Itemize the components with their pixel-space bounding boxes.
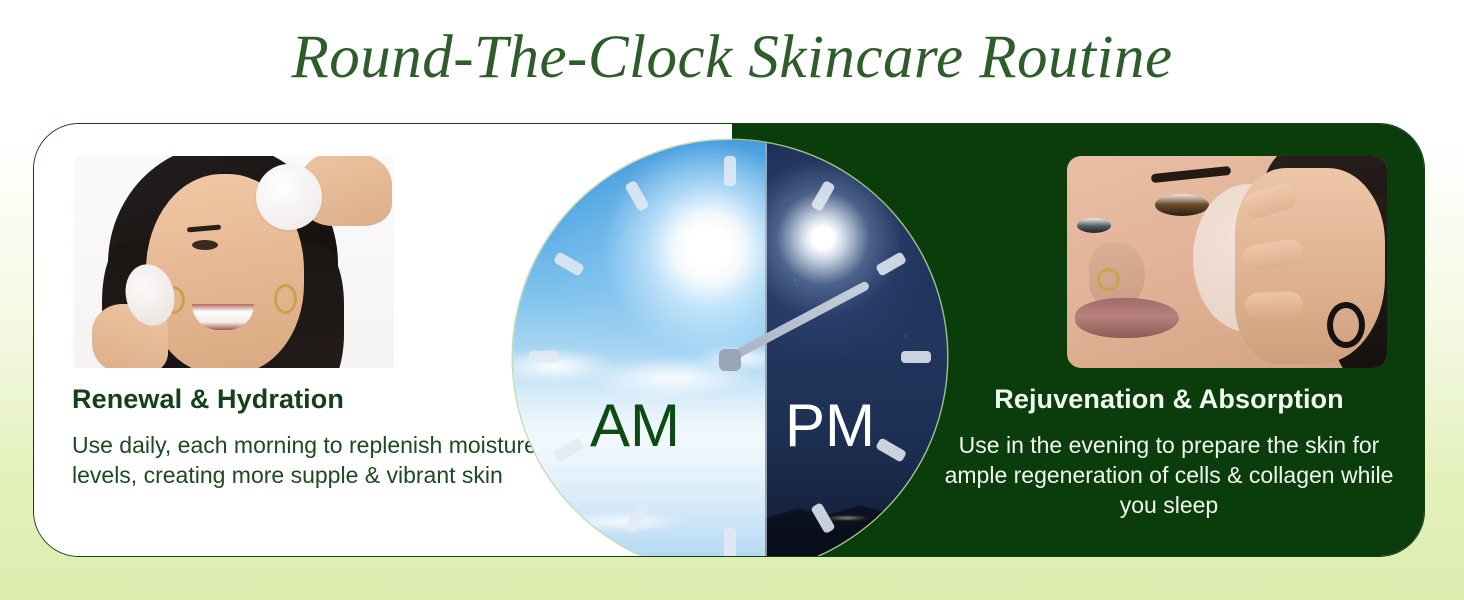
cotton-pad-eye (256, 164, 322, 230)
am-label: AM (513, 393, 765, 459)
clock-tick-9 (529, 351, 559, 363)
am-body: Use daily, each morning to replenish moi… (72, 430, 542, 490)
pm-label: PM (765, 393, 947, 459)
pm-heading: Rejuvenation & Absorption (934, 382, 1404, 416)
am-text-block: Renewal & Hydration Use daily, each morn… (72, 382, 542, 490)
clock-tick-6 (724, 528, 736, 557)
am-heading: Renewal & Hydration (72, 382, 542, 416)
photo-renewal-hydration (74, 156, 394, 368)
hoop-earring (1327, 302, 1365, 348)
finger-shape (1245, 291, 1304, 319)
hoop-earring-right (274, 284, 297, 314)
water-glint (533, 504, 713, 540)
nose-ring-icon (1097, 268, 1120, 291)
page-title: Round-The-Clock Skincare Routine (0, 22, 1464, 94)
page-title-wrap: Round-The-Clock Skincare Routine (0, 22, 1464, 94)
eye-shape-far (1077, 218, 1111, 233)
pm-text-block: Rejuvenation & Absorption Use in the eve… (934, 382, 1404, 520)
lips-shape (1075, 298, 1179, 338)
photo-rejuvenation-absorption (1067, 156, 1387, 368)
clock-face: AM PM (513, 140, 947, 557)
pm-body: Use in the evening to prepare the skin f… (934, 430, 1404, 520)
clock-tick-3 (901, 351, 931, 363)
routine-card: Renewal & Hydration Use daily, each morn… (33, 123, 1425, 557)
clock-center-cap (719, 349, 741, 371)
eye-shape (192, 240, 218, 250)
clock-labels: AM PM (513, 393, 947, 459)
clock-day-night-divider (765, 140, 767, 557)
clock-tick-12 (724, 156, 736, 186)
eye-shape (1155, 194, 1209, 216)
day-night-clock: AM PM (513, 140, 947, 557)
